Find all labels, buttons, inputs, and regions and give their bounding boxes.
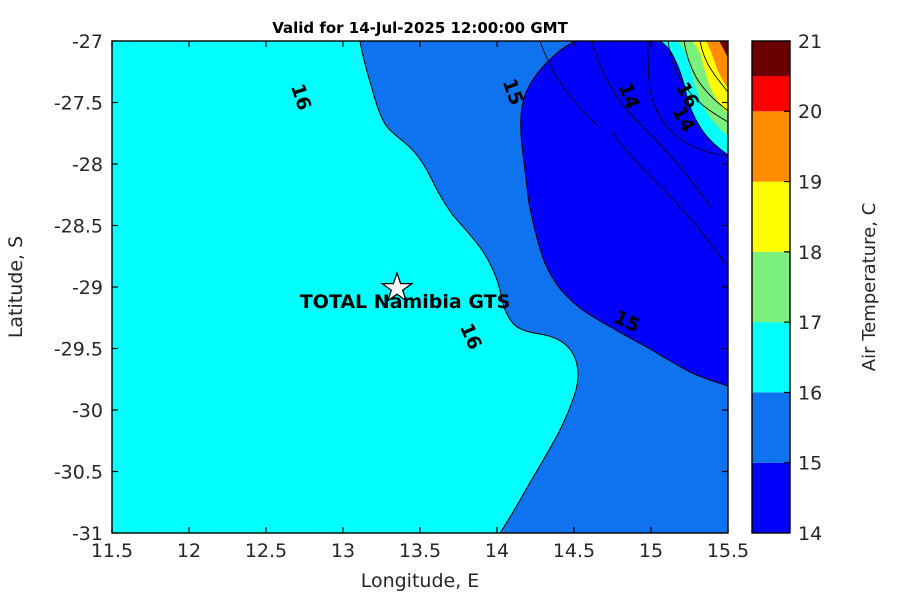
- x-tick-label: 12: [177, 540, 201, 562]
- x-tick-label: 13: [331, 540, 355, 562]
- colorbar-band-top-extend: [752, 41, 790, 76]
- y-tick-label: -27: [72, 31, 103, 53]
- colorbar-band-19-20: [752, 111, 790, 181]
- y-axis-label: Latitude, S: [5, 236, 27, 338]
- colorbar-tick-label: 15: [798, 453, 822, 475]
- contour-plot: TOTAL Namibia GTS 16 15 14 16 14 16 15: [5, 31, 749, 592]
- chart-title: Valid for 14-Jul-2025 12:00:00 GMT: [272, 19, 568, 37]
- contour-fill-layer: [112, 41, 728, 533]
- colorbar-tick-label: 16: [798, 382, 822, 404]
- colorbar-tick-label: 21: [798, 31, 822, 53]
- y-tick-label: -29: [72, 277, 103, 299]
- station-label: TOTAL Namibia GTS: [300, 291, 511, 313]
- colorbar-tick-label: 14: [798, 523, 822, 545]
- x-tick-label: 14: [485, 540, 509, 562]
- y-tick-label: -28.5: [54, 216, 103, 238]
- colorbar-band-15-16: [752, 392, 790, 462]
- x-tick-label: 15: [639, 540, 663, 562]
- colorbar-tick-label: 17: [798, 312, 822, 334]
- x-tick-label: 15.5: [707, 540, 749, 562]
- y-tick-label: -30: [72, 400, 103, 422]
- x-tick-label: 13.5: [399, 540, 441, 562]
- x-tick-label: 12.5: [245, 540, 287, 562]
- y-tick-label: -27.5: [54, 93, 103, 115]
- colorbar-label: Air Temperature, C: [859, 203, 880, 371]
- air-temperature-contour-figure: Valid for 14-Jul-2025 12:00:00 GMT: [0, 0, 900, 600]
- y-tick-label: -31: [72, 523, 103, 545]
- colorbar-band-17-18: [752, 252, 790, 322]
- x-axis-label: Longitude, E: [361, 570, 480, 592]
- x-tick-labels: 11.5 12 12.5 13 13.5 14 14.5 15 15.5: [91, 540, 749, 562]
- colorbar-tick-label: 18: [798, 242, 822, 264]
- colorbar-band-18-19: [752, 182, 790, 252]
- colorbar-band-16-17: [752, 322, 790, 392]
- y-tick-label: -28: [72, 154, 103, 176]
- y-tick-label: -29.5: [54, 339, 103, 361]
- colorbar-tick-label: 20: [798, 101, 822, 123]
- x-tick-label: 14.5: [553, 540, 595, 562]
- y-tick-label: -30.5: [54, 462, 103, 484]
- colorbar-band-14-15: [752, 463, 790, 533]
- colorbar-tick-label: 19: [798, 172, 822, 194]
